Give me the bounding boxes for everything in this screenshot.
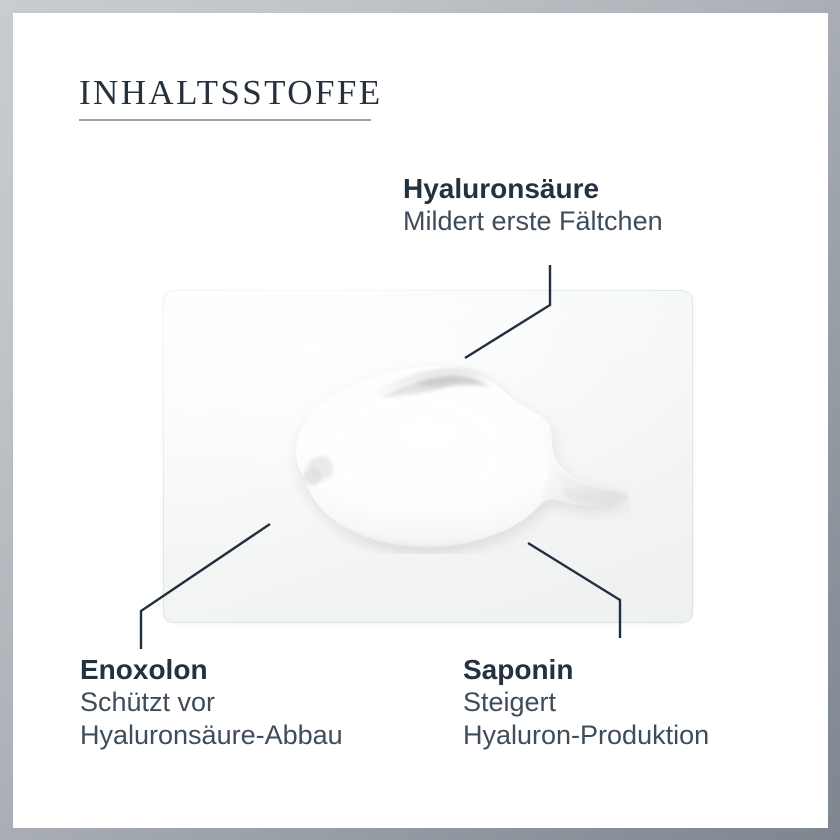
callout-saponin: Saponin Steigert Hyaluron-Produktion bbox=[463, 653, 709, 752]
callout-description-line: Mildert erste Fältchen bbox=[403, 205, 663, 238]
callout-title: Saponin bbox=[463, 653, 709, 686]
callout-description-line: Hyaluronsäure-Abbau bbox=[80, 719, 343, 752]
callout-title: Enoxolon bbox=[80, 653, 343, 686]
callout-description: Steigert Hyaluron-Produktion bbox=[463, 686, 709, 752]
outer-frame: INHALTSSTOFFE bbox=[0, 0, 840, 840]
cream-swatch-icon bbox=[265, 354, 630, 554]
page-title-block: INHALTSSTOFFE bbox=[79, 75, 379, 121]
callout-title: Hyaluronsäure bbox=[403, 172, 663, 205]
callout-description-line: Hyaluron-Produktion bbox=[463, 719, 709, 752]
title-underline bbox=[79, 119, 371, 121]
content-canvas: INHALTSSTOFFE bbox=[13, 13, 828, 828]
callout-description-line: Steigert bbox=[463, 686, 709, 719]
callout-hyaluronsaeure: Hyaluronsäure Mildert erste Fältchen bbox=[403, 172, 663, 238]
callout-description: Schützt vor Hyaluronsäure-Abbau bbox=[80, 686, 343, 752]
callout-enoxolon: Enoxolon Schützt vor Hyaluronsäure-Abbau bbox=[80, 653, 343, 752]
page-title: INHALTSSTOFFE bbox=[79, 75, 379, 112]
callout-description-line: Schützt vor bbox=[80, 686, 343, 719]
callout-description: Mildert erste Fältchen bbox=[403, 205, 663, 238]
